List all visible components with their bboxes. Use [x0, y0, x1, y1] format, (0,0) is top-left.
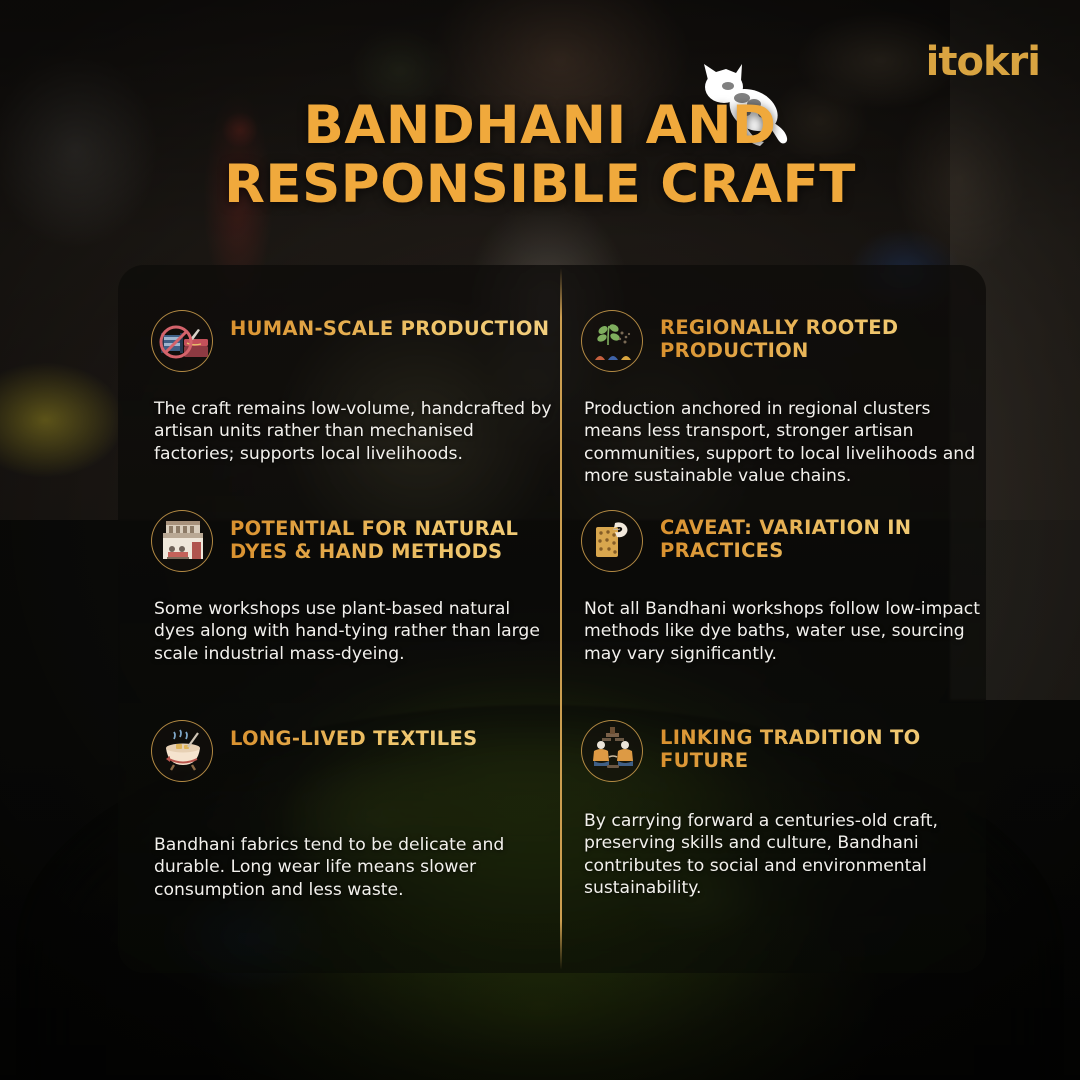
item-title: LINKING TRADITION TO FUTURE	[660, 720, 981, 772]
item-header: LINKING TRADITION TO FUTURE	[581, 720, 981, 782]
item-human-scale-production: HUMAN-SCALE PRODUCTION The craft remains…	[151, 310, 576, 465]
seedling-dye-powders-icon	[581, 310, 643, 372]
artisan-workshop-building-icon	[151, 510, 213, 572]
item-header: LONG-LIVED TEXTILES	[151, 720, 576, 782]
page-title: BANDHANI AND RESPONSIBLE CRAFT	[0, 96, 1080, 215]
title-line-2: RESPONSIBLE CRAFT	[0, 155, 1080, 214]
item-body: By carrying forward a centuries-old craf…	[584, 810, 981, 899]
item-header: REGIONALLY ROOTED PRODUCTION	[581, 310, 981, 372]
item-header: CAVEAT: VARIATION IN PRACTICES	[581, 510, 981, 572]
items-grid: HUMAN-SCALE PRODUCTION The craft remains…	[118, 265, 986, 973]
item-header: POTENTIAL FOR NATURAL DYES & HAND METHOD…	[151, 510, 576, 572]
item-title: REGIONALLY ROOTED PRODUCTION	[660, 310, 981, 362]
item-linking-tradition-to-future: LINKING TRADITION TO FUTURE By carrying …	[581, 720, 981, 899]
brand-logo: itokri	[926, 42, 1040, 82]
item-regionally-rooted-production: REGIONALLY ROOTED PRODUCTION Production …	[581, 310, 981, 487]
item-body: The craft remains low-volume, handcrafte…	[154, 398, 554, 465]
infographic-poster: itokri BANDHANI AND RESPONSIBLE CRAFT	[0, 0, 1080, 1080]
item-body: Production anchored in regional clusters…	[584, 398, 981, 487]
item-title: CAVEAT: VARIATION IN PRACTICES	[660, 510, 981, 562]
item-title: POTENTIAL FOR NATURAL DYES & HAND METHOD…	[230, 510, 576, 563]
item-long-lived-textiles: LONG-LIVED TEXTILES Bandhani fabrics ten…	[151, 720, 576, 901]
item-body: Some workshops use plant-based natural d…	[154, 598, 554, 665]
two-artisans-seated-icon	[581, 720, 643, 782]
steaming-dye-pot-icon	[151, 720, 213, 782]
hand-holding-patterned-fabric-icon	[581, 510, 643, 572]
item-title: LONG-LIVED TEXTILES	[230, 720, 478, 750]
title-line-1: BANDHANI AND	[0, 96, 1080, 155]
item-header: HUMAN-SCALE PRODUCTION	[151, 310, 576, 372]
no-machine-loom-icon	[151, 310, 213, 372]
item-body: Bandhani fabrics tend to be delicate and…	[154, 834, 554, 901]
item-natural-dyes-hand-methods: POTENTIAL FOR NATURAL DYES & HAND METHOD…	[151, 510, 576, 665]
item-title: HUMAN-SCALE PRODUCTION	[230, 310, 549, 340]
item-caveat-variation-in-practices: CAVEAT: VARIATION IN PRACTICES Not all B…	[581, 510, 981, 665]
item-body: Not all Bandhani workshops follow low-im…	[584, 598, 981, 665]
